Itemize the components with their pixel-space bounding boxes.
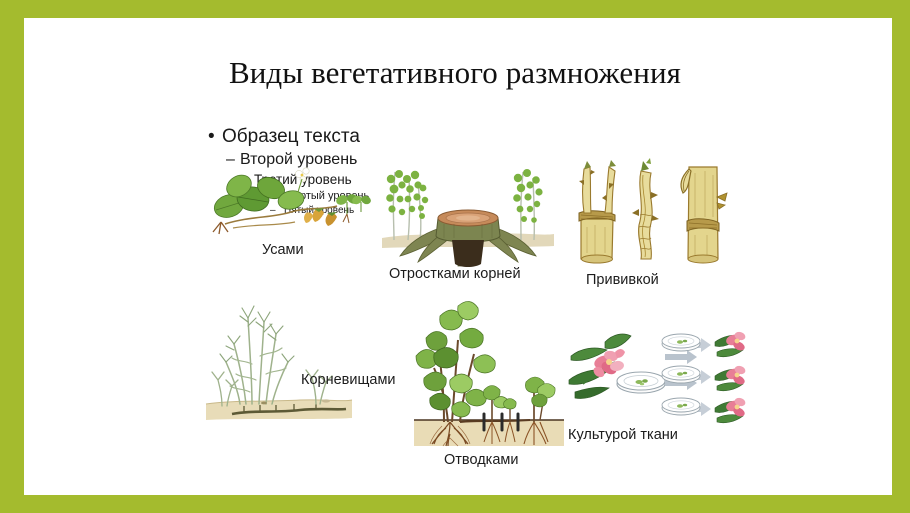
frame-band-top bbox=[0, 0, 910, 18]
slide-title: Виды вегетативного размножения bbox=[0, 55, 910, 91]
caption-otrostkami-korney: Отростками корней bbox=[389, 266, 521, 282]
rhizome-grass-icon bbox=[204, 300, 354, 425]
layering-shrub-icon bbox=[400, 298, 565, 450]
strawberry-runners-icon bbox=[195, 166, 370, 238]
tree-stump-root-sprouts-icon bbox=[378, 152, 556, 267]
caption-otvodkami: Отводками bbox=[444, 452, 518, 468]
placeholder-level-1-label: Образец текста bbox=[222, 126, 360, 147]
grafting-stems-icon bbox=[565, 155, 725, 267]
caption-kulturoy-tkani: Культурой ткани bbox=[568, 427, 678, 443]
frame-band-bottom bbox=[0, 495, 910, 513]
bullet-level-1-icon: • bbox=[208, 126, 222, 148]
presentation-slide: Виды вегетативного размножения •Образец … bbox=[0, 0, 910, 513]
caption-privivkoy: Прививкой bbox=[586, 272, 659, 288]
placeholder-level-1: •Образец текста bbox=[208, 126, 438, 148]
caption-kornevishchami: Корневищами bbox=[301, 372, 396, 388]
caption-usami: Усами bbox=[262, 242, 304, 258]
tissue-culture-icon bbox=[565, 322, 757, 422]
